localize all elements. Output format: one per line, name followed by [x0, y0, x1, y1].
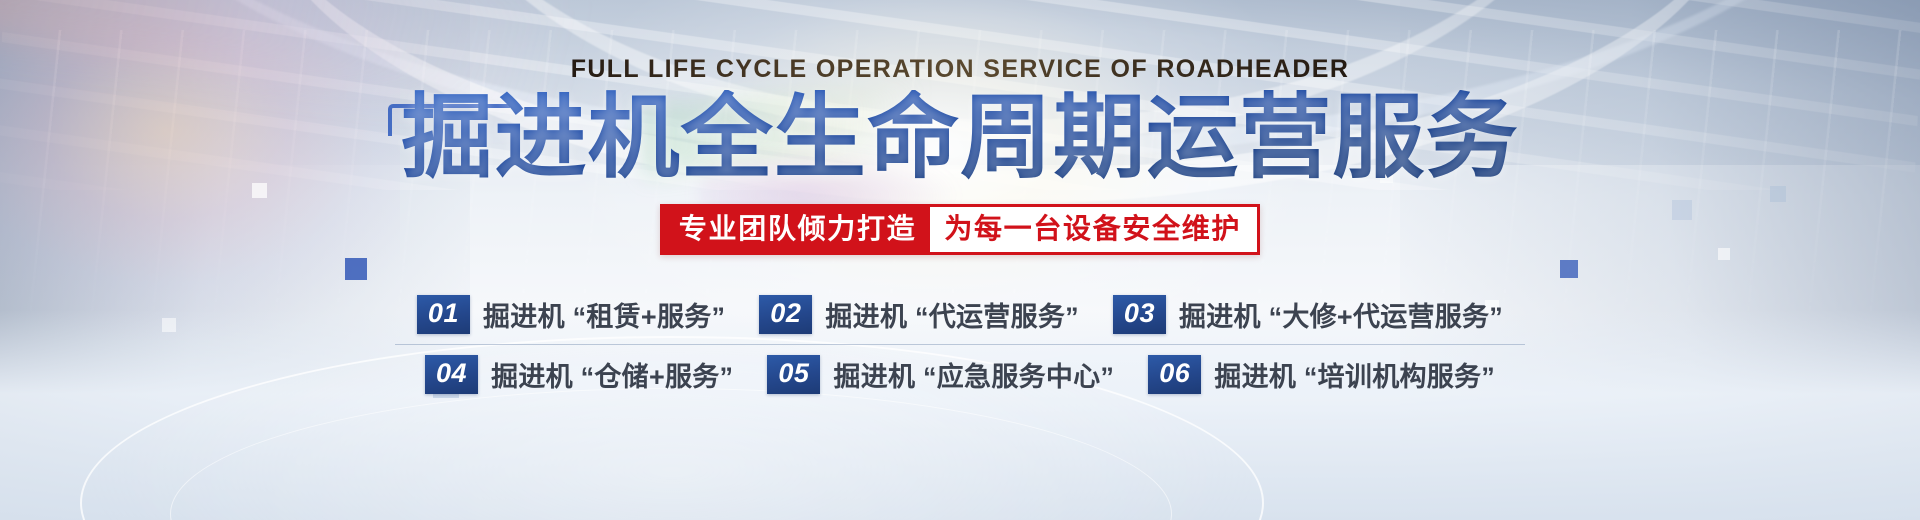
service-number-badge: 04 — [425, 355, 478, 394]
service-label: 掘进机 “培训机构服务” — [1214, 355, 1495, 394]
english-tagline: FULL LIFE CYCLE OPERATION SERVICE OF ROA… — [571, 55, 1350, 84]
service-item-02[interactable]: 02 掘进机 “代运营服务” — [759, 295, 1079, 334]
service-number-badge: 03 — [1113, 295, 1166, 334]
service-item-04[interactable]: 04 掘进机 “仓储+服务” — [425, 355, 733, 394]
service-label: 掘进机 “大修+代运营服务” — [1179, 295, 1503, 334]
service-number-badge: 01 — [417, 295, 470, 334]
service-label: 掘进机 “仓储+服务” — [491, 355, 733, 394]
service-item-06[interactable]: 06 掘进机 “培训机构服务” — [1148, 355, 1495, 394]
service-number-badge: 05 — [767, 355, 820, 394]
slogan-right: 为每一台设备安全维护 — [930, 207, 1257, 252]
banner-content: FULL LIFE CYCLE OPERATION SERVICE OF ROA… — [0, 0, 1920, 520]
service-number-badge: 06 — [1148, 355, 1201, 394]
service-list: 01 掘进机 “租赁+服务” 02 掘进机 “代运营服务” 03 掘进机 “大修… — [395, 289, 1525, 404]
service-item-01[interactable]: 01 掘进机 “租赁+服务” — [417, 295, 725, 334]
service-item-03[interactable]: 03 掘进机 “大修+代运营服务” — [1113, 295, 1503, 334]
slogan-strip: 专业团队倾力打造 为每一台设备安全维护 — [660, 204, 1260, 255]
service-row-2: 04 掘进机 “仓储+服务” 05 掘进机 “应急服务中心” 06 掘进机 “培… — [395, 349, 1525, 404]
service-number-badge: 02 — [759, 295, 812, 334]
service-item-05[interactable]: 05 掘进机 “应急服务中心” — [767, 355, 1114, 394]
service-row-1: 01 掘进机 “租赁+服务” 02 掘进机 “代运营服务” 03 掘进机 “大修… — [395, 289, 1525, 345]
slogan-left: 专业团队倾力打造 — [663, 207, 930, 252]
headline: 掘进机全生命周期运营服务 — [401, 90, 1518, 188]
service-label: 掘进机 “代运营服务” — [825, 295, 1078, 334]
service-label: 掘进机 “应急服务中心” — [833, 355, 1114, 394]
service-label: 掘进机 “租赁+服务” — [483, 295, 725, 334]
promo-banner: FULL LIFE CYCLE OPERATION SERVICE OF ROA… — [0, 0, 1920, 520]
